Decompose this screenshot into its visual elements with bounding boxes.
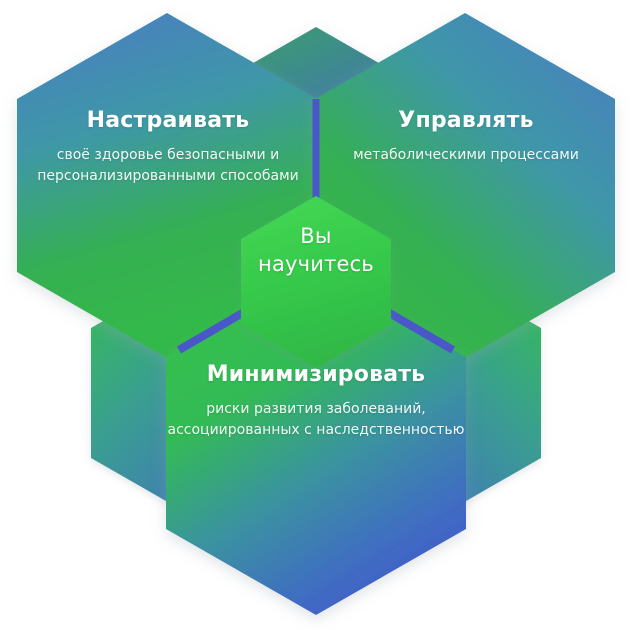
hexagon-diagram: Настраивать своё здоровье безопасными и …: [0, 0, 632, 630]
hexagon-canvas: [0, 0, 632, 630]
